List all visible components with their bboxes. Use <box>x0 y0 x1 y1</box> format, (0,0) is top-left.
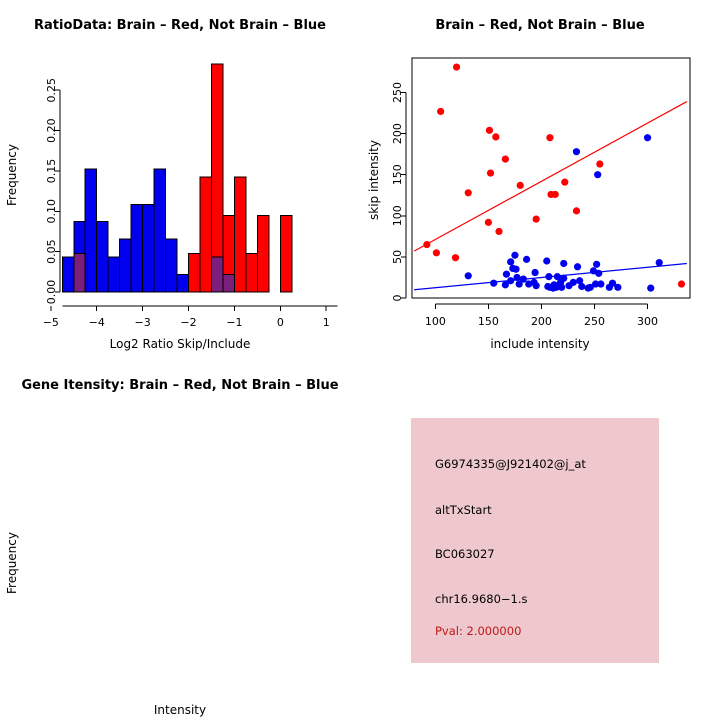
panel-ratio-histogram: RatioData: Brain – Red, Not Brain – Blue… <box>0 0 360 360</box>
scatter-point <box>678 280 685 287</box>
histogram-bar <box>74 254 85 292</box>
scatter-point <box>543 257 550 264</box>
svg-text:250: 250 <box>584 315 605 328</box>
scatter-point <box>557 279 564 286</box>
svg-text:200: 200 <box>391 123 404 144</box>
scatter-point <box>561 179 568 186</box>
scatter-point <box>576 277 583 284</box>
svg-text:0: 0 <box>391 295 404 302</box>
scatter-point <box>597 280 604 287</box>
svg-text:200: 200 <box>531 315 552 328</box>
histogram-bar <box>120 239 131 292</box>
plot-page: RatioData: Brain – Red, Not Brain – Blue… <box>0 0 720 720</box>
scatter-point <box>614 284 621 291</box>
scatter-point <box>656 259 663 266</box>
scatter-frame <box>412 58 690 298</box>
svg-text:1: 1 <box>323 316 330 329</box>
histogram-bar <box>97 221 108 292</box>
svg-text:150: 150 <box>478 315 499 328</box>
scatter-axes: 050100150200250100150200250300 <box>391 82 658 328</box>
scatter-point <box>452 254 459 261</box>
scatter-point <box>433 249 440 256</box>
scatter-point <box>492 133 499 140</box>
svg-text:0.20: 0.20 <box>45 118 58 143</box>
svg-text:0: 0 <box>277 316 284 329</box>
scatter-point <box>486 127 493 134</box>
scatter-point <box>520 275 527 282</box>
svg-text:50: 50 <box>391 250 404 264</box>
histogram-bar <box>246 254 257 292</box>
scatter-point <box>570 279 577 286</box>
scatter-point <box>512 266 519 273</box>
panel-gene-histogram: Gene Itensity: Brain – Red, Not Brain – … <box>0 360 360 720</box>
scatter-point <box>453 63 460 70</box>
scatter-point <box>545 273 552 280</box>
svg-text:150: 150 <box>391 164 404 185</box>
svg-text:−4: −4 <box>89 316 105 329</box>
info-box: G6974335@J921402@j_at altTxStart BC06302… <box>411 418 659 663</box>
panel-scatter: Brain – Red, Not Brain – Blue 0501001502… <box>360 0 720 360</box>
ratio-histogram-bars <box>62 64 292 292</box>
histogram-bar <box>85 169 96 292</box>
svg-text:−2: −2 <box>180 316 196 329</box>
svg-text:0.15: 0.15 <box>45 159 58 184</box>
scatter-point <box>594 171 601 178</box>
scatter-svg: 050100150200250100150200250300 <box>360 0 720 360</box>
histogram-bar <box>108 257 119 292</box>
scatter-point <box>513 274 520 281</box>
svg-text:0.05: 0.05 <box>45 239 58 263</box>
histogram-bar <box>143 204 154 292</box>
scatter-point <box>523 256 530 263</box>
scatter-point <box>596 160 603 167</box>
scatter-point <box>546 134 553 141</box>
histogram-bar <box>211 257 222 292</box>
svg-text:−1: −1 <box>226 316 242 329</box>
scatter-point <box>517 182 524 189</box>
histogram-bar <box>234 177 245 292</box>
histogram-bar <box>257 215 268 292</box>
svg-text:100: 100 <box>391 205 404 226</box>
histogram-bar <box>177 275 188 292</box>
svg-text:0.10: 0.10 <box>45 199 58 224</box>
scatter-point <box>606 284 613 291</box>
scatter-point <box>533 215 540 222</box>
scatter-points <box>423 63 685 291</box>
svg-text:0.25: 0.25 <box>45 78 58 103</box>
scatter-point <box>465 189 472 196</box>
scatter-point <box>465 272 472 279</box>
scatter-point <box>507 277 514 284</box>
histogram-bar <box>189 254 200 292</box>
info-locus: chr16.9680−1.s <box>435 592 528 606</box>
svg-text:250: 250 <box>391 82 404 103</box>
svg-text:0.00: 0.00 <box>45 280 58 305</box>
scatter-point <box>485 219 492 226</box>
info-probeset-id: G6974335@J921402@j_at <box>435 457 586 471</box>
scatter-point <box>560 260 567 267</box>
scatter-point <box>551 281 558 288</box>
scatter-point <box>437 108 444 115</box>
histogram-bar <box>223 275 234 292</box>
scatter-point <box>544 283 551 290</box>
scatter-point <box>531 269 538 276</box>
histogram-bar <box>154 169 165 292</box>
regression-line <box>414 102 687 252</box>
histogram-bar <box>131 204 142 292</box>
scatter-point <box>647 285 654 292</box>
scatter-point <box>573 207 580 214</box>
scatter-point <box>530 279 537 286</box>
scatter-point <box>585 285 592 292</box>
svg-text:−5: −5 <box>43 316 59 329</box>
svg-text:300: 300 <box>637 315 658 328</box>
histogram-bar <box>280 215 291 292</box>
svg-text:100: 100 <box>425 315 446 328</box>
histogram-bar <box>200 177 211 292</box>
scatter-point <box>423 241 430 248</box>
histogram-bar <box>62 257 73 292</box>
histogram-bar <box>166 239 177 292</box>
scatter-point <box>573 148 580 155</box>
scatter-point <box>487 169 494 176</box>
scatter-point <box>574 263 581 270</box>
scatter-point <box>644 134 651 141</box>
svg-text:−3: −3 <box>135 316 151 329</box>
scatter-point <box>503 271 510 278</box>
info-accession: BC063027 <box>435 547 495 561</box>
panel-info: G6974335@J921402@j_at altTxStart BC06302… <box>360 360 720 720</box>
info-pval: Pval: 2.000000 <box>435 624 521 638</box>
scatter-point <box>495 228 502 235</box>
info-event-type: altTxStart <box>435 503 492 517</box>
scatter-point <box>595 270 602 277</box>
scatter-point <box>552 191 559 198</box>
scatter-point <box>502 155 509 162</box>
ratio-histogram-svg: 0.000.050.100.150.200.25−5−4−3−2−101 <box>0 0 360 360</box>
scatter-point <box>507 258 514 265</box>
scatter-point <box>593 261 600 268</box>
scatter-point <box>511 252 518 259</box>
gene-histogram-svg: 0.00.10.20.30.4050100150200250 <box>0 360 360 720</box>
scatter-point <box>490 280 497 287</box>
